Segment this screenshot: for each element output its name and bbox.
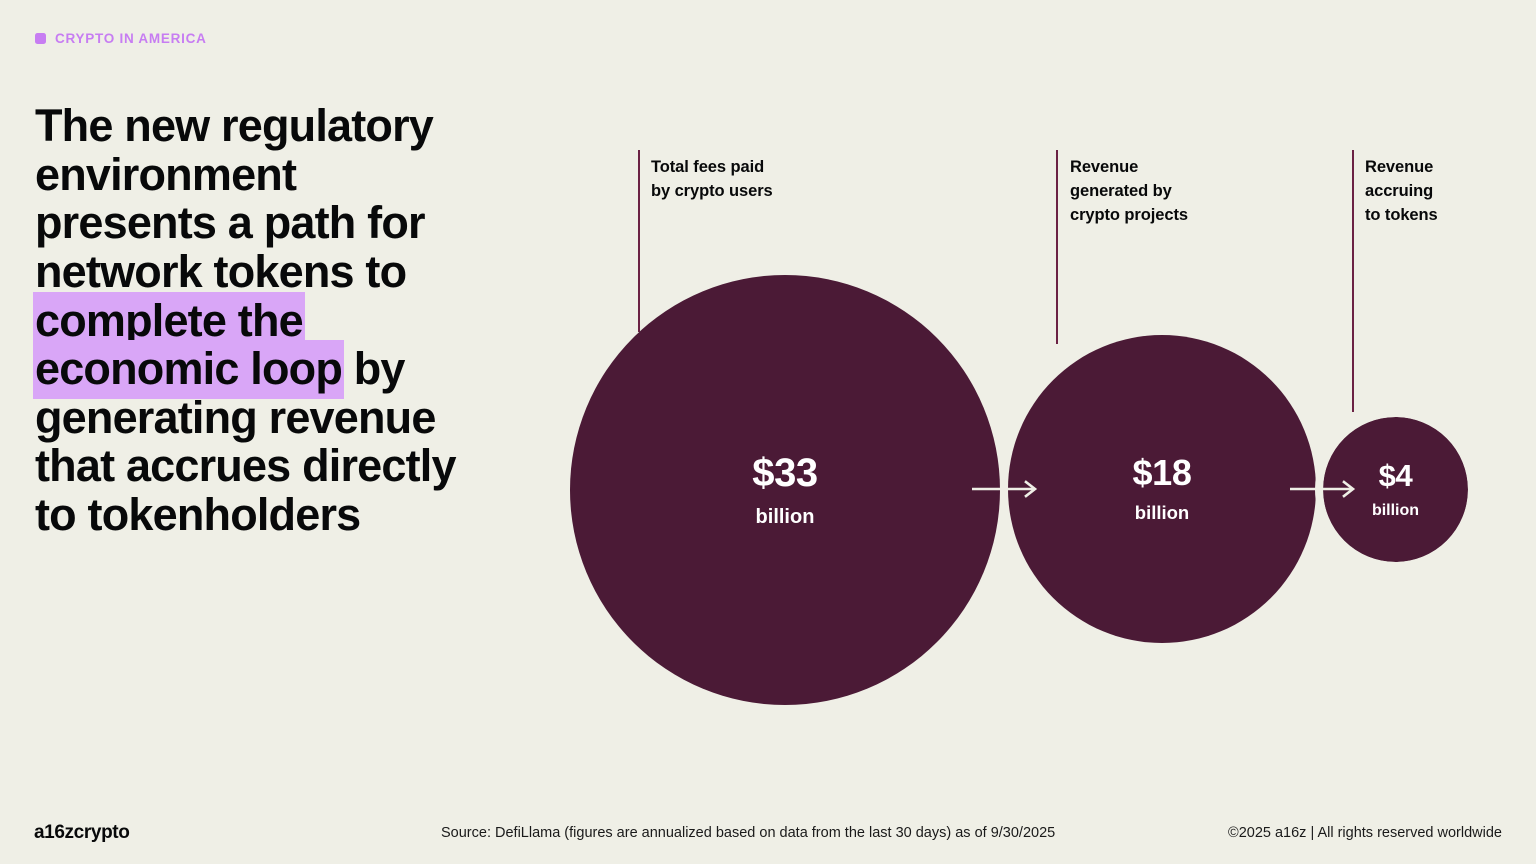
headline-line-9: to tokenholders xyxy=(35,491,505,540)
leader-line-3 xyxy=(1352,150,1354,412)
bubble-token-revenue: $4 billion xyxy=(1323,417,1468,562)
leader-line-1 xyxy=(638,150,640,332)
arrow-right-icon-1 xyxy=(970,477,1042,501)
page-title: The new regulatory environment presents … xyxy=(35,102,505,539)
bubble-project-revenue: $18 billion xyxy=(1008,335,1316,643)
column-label-1: Total fees paid by crypto users xyxy=(651,155,773,203)
bubble-value-1: $33 xyxy=(752,453,818,493)
headline-line-6: economic loop by xyxy=(35,345,505,394)
slide-canvas: CRYPTO IN AMERICA The new regulatory env… xyxy=(0,0,1536,864)
purple-square-icon xyxy=(35,33,46,44)
source-note: Source: DefiLlama (figures are annualize… xyxy=(441,825,1055,841)
copyright-note: ©2025 a16z | All rights reserved worldwi… xyxy=(1228,825,1502,841)
eyebrow: CRYPTO IN AMERICA xyxy=(35,31,207,46)
bubble-unit-1: billion xyxy=(756,507,815,527)
bubble-unit-3: billion xyxy=(1372,503,1419,519)
headline-line-2: environment xyxy=(35,151,505,200)
column-label-3: Revenue accruing to tokens xyxy=(1365,155,1438,227)
headline-line-8: that accrues directly xyxy=(35,442,505,491)
headline-line-7: generating revenue xyxy=(35,394,505,443)
bubble-value-3: $4 xyxy=(1379,460,1413,491)
a16zcrypto-logo: a16zcrypto xyxy=(34,822,129,844)
bubble-total-fees: $33 billion xyxy=(570,275,1000,705)
bubble-3-ring xyxy=(1315,409,1476,570)
eyebrow-label: CRYPTO IN AMERICA xyxy=(55,31,207,46)
headline-line-5: complete the xyxy=(35,297,505,346)
column-label-2: Revenue generated by crypto projects xyxy=(1070,155,1188,227)
headline-line-6-tail: by xyxy=(342,343,405,394)
headline-line-1: The new regulatory xyxy=(35,102,505,151)
headline-highlight-b: economic loop xyxy=(33,340,344,399)
headline-line-3: presents a path for xyxy=(35,199,505,248)
headline-line-4: network tokens to xyxy=(35,248,505,297)
bubble-unit-2: billion xyxy=(1135,504,1189,523)
bubble-value-2: $18 xyxy=(1133,455,1192,491)
leader-line-2 xyxy=(1056,150,1058,344)
arrow-right-icon-2 xyxy=(1288,477,1360,501)
